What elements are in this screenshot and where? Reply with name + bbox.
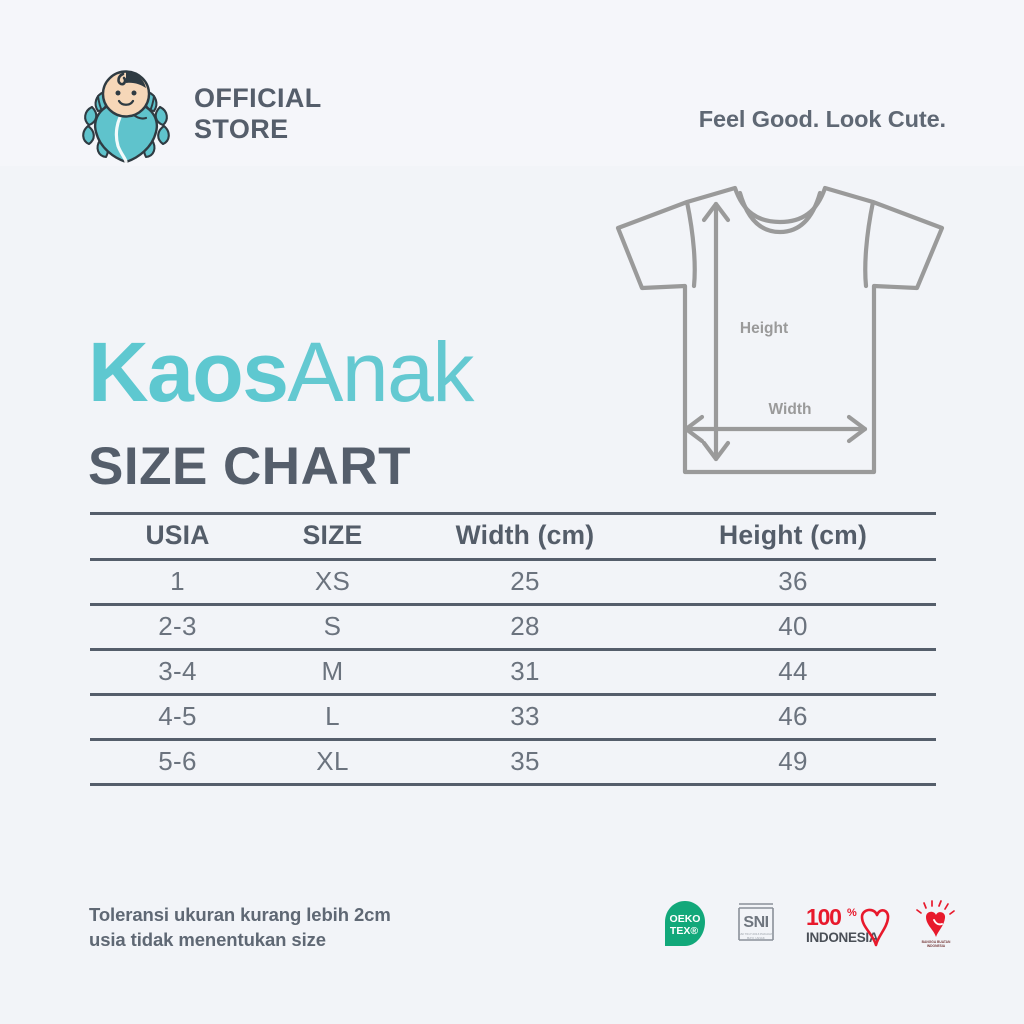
svg-text:SNI: SNI [743, 914, 768, 931]
cell-usia: 3-4 [90, 650, 265, 695]
oeko-tex-badge-icon: OEKO TEX® [662, 899, 708, 949]
cell-size: S [265, 605, 400, 650]
table-header-row: USIA SIZE Width (cm) Height (cm) [90, 514, 936, 560]
table-row: 1 XS 25 36 [90, 560, 936, 605]
column-header-size: SIZE [265, 514, 400, 560]
horizontal-double-arrow-icon [686, 417, 865, 441]
tagline: Feel Good. Look Cute. [699, 106, 946, 133]
svg-text:OEKO: OEKO [670, 913, 701, 925]
width-dimension-label: Width [769, 401, 812, 418]
brand-name: OFFICIAL STORE [194, 83, 322, 146]
table-row: 4-5 L 33 46 [90, 695, 936, 740]
cell-size: M [265, 650, 400, 695]
100-persen-indonesia-badge-icon: 100 % INDONESIA [804, 900, 890, 948]
brand-name-line1: OFFICIAL [194, 83, 322, 114]
sni-badge-icon: SNI SNI 7617:2013 PAKAIAN BAYI / ANAK [732, 898, 780, 950]
cell-width: 28 [400, 605, 650, 650]
size-chart-table: USIA SIZE Width (cm) Height (cm) 1 XS 25… [90, 512, 936, 786]
cell-usia: 1 [90, 560, 265, 605]
svg-text:TEX®: TEX® [670, 925, 698, 937]
size-chart-page: OFFICIAL STORE Feel Good. Look Cute. Kao… [0, 0, 1024, 1024]
cell-height: 49 [650, 740, 936, 785]
svg-text:INDONESIA: INDONESIA [927, 944, 946, 948]
page-title: KaosAnak [88, 330, 473, 414]
cell-size: XL [265, 740, 400, 785]
cell-usia: 4-5 [90, 695, 265, 740]
cell-height: 36 [650, 560, 936, 605]
svg-text:100: 100 [806, 904, 841, 930]
cell-width: 25 [400, 560, 650, 605]
brand-name-line2: STORE [194, 114, 322, 145]
table-row: 3-4 M 31 44 [90, 650, 936, 695]
tolerance-note: Toleransi ukuran kurang lebih 2cm usia t… [89, 903, 391, 952]
header-band: OFFICIAL STORE Feel Good. Look Cute. [0, 0, 1024, 166]
certification-badges: OEKO TEX® SNI SNI 7617:2013 PAKAIAN BAYI… [662, 898, 958, 950]
cell-height: 46 [650, 695, 936, 740]
title-block: KaosAnak SIZE CHART [88, 330, 473, 493]
cell-width: 35 [400, 740, 650, 785]
page-title-strong: Kaos [88, 325, 287, 419]
cell-size: L [265, 695, 400, 740]
brand-lockup: OFFICIAL STORE [74, 62, 322, 166]
cell-usia: 2-3 [90, 605, 265, 650]
table-row: 2-3 S 28 40 [90, 605, 936, 650]
cell-usia: 5-6 [90, 740, 265, 785]
svg-text:%: % [847, 907, 857, 919]
column-header-height: Height (cm) [650, 514, 936, 560]
cell-width: 33 [400, 695, 650, 740]
baby-swaddle-leaves-logo-icon [74, 62, 178, 166]
vertical-double-arrow-icon [704, 204, 728, 459]
column-header-width: Width (cm) [400, 514, 650, 560]
column-header-usia: USIA [90, 514, 265, 560]
tshirt-diagram: Height Width [612, 176, 948, 482]
page-subtitle: SIZE CHART [88, 440, 473, 493]
tolerance-note-line1: Toleransi ukuran kurang lebih 2cm [89, 903, 391, 928]
tolerance-note-line2: usia tidak menentukan size [89, 928, 391, 953]
svg-text:BAYI / ANAK: BAYI / ANAK [747, 936, 766, 940]
table-row: 5-6 XL 35 49 [90, 740, 936, 785]
height-dimension-label: Height [740, 320, 788, 337]
cell-height: 40 [650, 605, 936, 650]
cell-height: 44 [650, 650, 936, 695]
bangga-buatan-indonesia-badge-icon: BANGGA BUATAN INDONESIA [914, 900, 958, 948]
cell-size: XS [265, 560, 400, 605]
page-title-light: Anak [287, 325, 472, 419]
cell-width: 31 [400, 650, 650, 695]
